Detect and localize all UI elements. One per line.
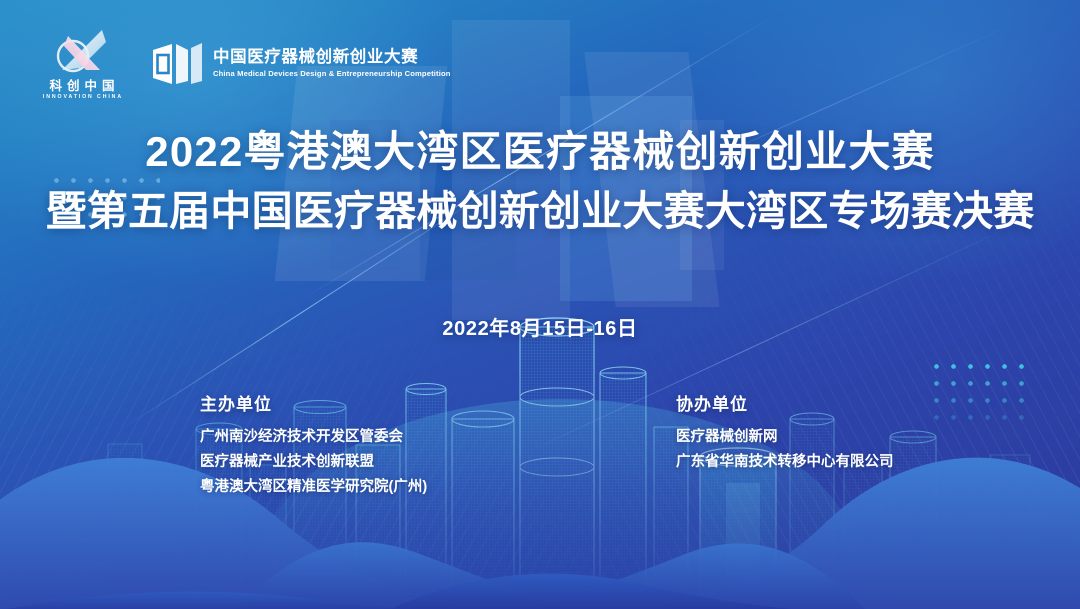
glow-bottom (0, 349, 1080, 609)
logo-cmd-competition: 中国医疗器械创新创业大赛 China Medical Devices Desig… (150, 41, 451, 87)
host-organizer-item: 医疗器械产业技术创新联盟 (200, 450, 427, 475)
logo-innovation-china: 科创中国 INNOVATION CHINA (38, 26, 126, 101)
event-banner: 科创中国 INNOVATION CHINA 中国医疗器械创新创业大赛 China… (0, 0, 1080, 609)
cooperating-organizer-title: 协办单位 (676, 390, 894, 415)
dot-grid-right (928, 358, 1032, 428)
host-organizer-title: 主办单位 (200, 390, 427, 415)
logo-bar: 科创中国 INNOVATION CHINA 中国医疗器械创新创业大赛 China… (38, 26, 451, 101)
host-organizer-item: 粤港澳大湾区精准医学研究院(广州) (200, 475, 427, 500)
cooperating-organizer-item: 广东省华南技术转移中心有限公司 (676, 450, 894, 475)
event-title-line1: 2022粤港澳大湾区医疗器械创新创业大赛 (0, 128, 1080, 175)
host-organizer-block: 主办单位 广州南沙经济技术开发区管委会 医疗器械产业技术创新联盟 粤港澳大湾区精… (200, 390, 427, 500)
logo-cmd-cn: 中国医疗器械创新创业大赛 (213, 48, 451, 67)
event-title-line2: 暨第五届中国医疗器械创新创业大赛大湾区专场赛决赛 (0, 189, 1080, 235)
logo-innovation-china-en: INNOVATION CHINA (41, 94, 123, 101)
open-book-mark (150, 41, 204, 87)
event-title: 2022粤港澳大湾区医疗器械创新创业大赛 暨第五届中国医疗器械创新创业大赛大湾区… (0, 128, 1080, 235)
cooperating-organizer-item: 医疗器械创新网 (676, 425, 894, 450)
logo-cmd-en: China Medical Devices Design & Entrepren… (213, 69, 451, 79)
event-date: 2022年8月15日-16日 (0, 312, 1080, 341)
bird-swoosh-mark (46, 26, 118, 78)
wave-hills (0, 424, 1080, 609)
cooperating-organizer-block: 协办单位 医疗器械创新网 广东省华南技术转移中心有限公司 (676, 390, 894, 475)
logo-innovation-china-cn: 科创中国 (44, 80, 119, 94)
host-organizer-item: 广州南沙经济技术开发区管委会 (200, 425, 427, 450)
